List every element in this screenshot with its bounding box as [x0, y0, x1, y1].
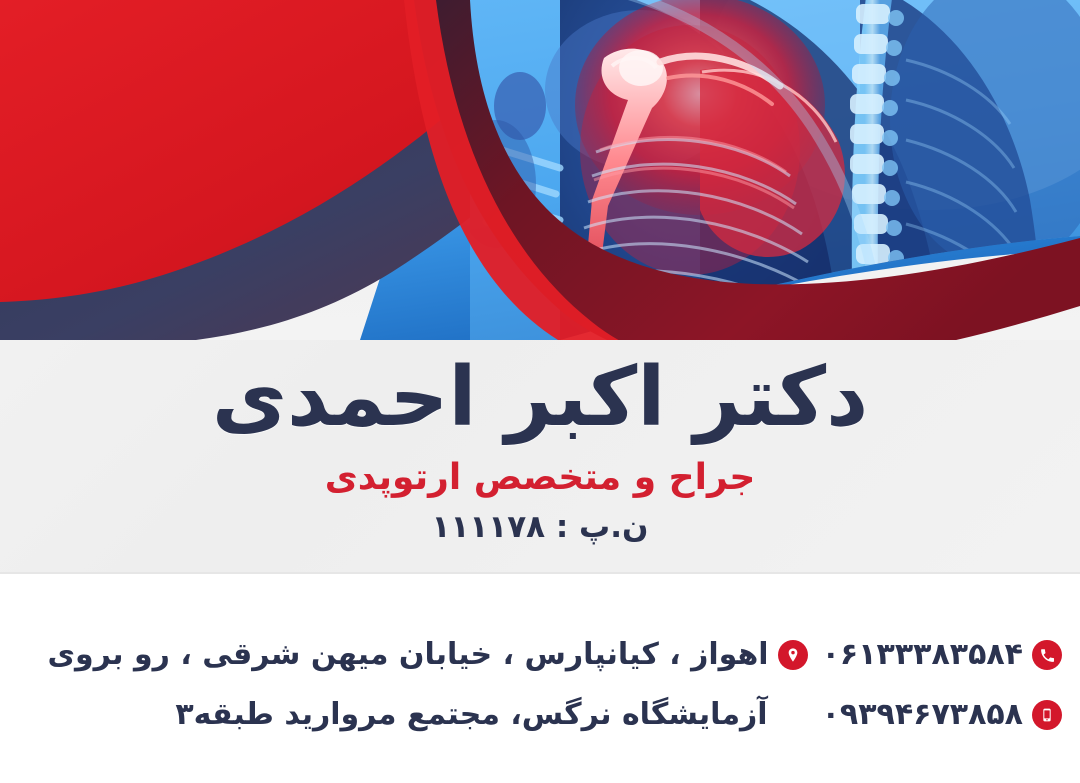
specialty-line: جراح و متخصص ارتوپدی: [0, 456, 1080, 499]
panel-divider: [0, 572, 1080, 574]
card-upper-panel: دکتر اکبر احمدی جراح و متخصص ارتوپدی ن.پ…: [0, 0, 1080, 574]
identity-block: دکتر اکبر احمدی جراح و متخصص ارتوپدی ن.پ…: [0, 352, 1080, 546]
phone-handset-icon[interactable]: [1032, 640, 1062, 670]
address-line-2: آزمایشگاه نرگس، مجتمع مروارید طبقه۳: [175, 700, 767, 730]
header-graphic-svg: [0, 0, 1080, 340]
contact-footer: ۰۶۱۳۳۳۸۳۵۸۴ اهواز ، کیانپارس ، خیابان می…: [0, 600, 1080, 783]
map-pin-icon[interactable]: [778, 640, 808, 670]
business-card: دکتر اکبر احمدی جراح و متخصص ارتوپدی ن.پ…: [0, 0, 1080, 783]
license-number: ن.پ : ۱۱۱۱۷۸: [0, 509, 1080, 546]
mobile-number[interactable]: ۰۹۳۹۴۶۷۳۸۵۸: [822, 700, 1023, 730]
contact-row-mobile: ۰۹۳۹۴۶۷۳۸۵۸ آزمایشگاه نرگس، مجتمع مرواری…: [0, 688, 1080, 742]
address-line-1: اهواز ، کیانپارس ، خیابان میهن شرقی ، رو…: [48, 640, 769, 670]
mobile-phone-icon[interactable]: [1032, 700, 1062, 730]
doctor-name: دکتر اکبر احمدی: [0, 352, 1080, 444]
landline-number[interactable]: ۰۶۱۳۳۳۸۳۵۸۴: [822, 640, 1023, 670]
contact-row-landline: ۰۶۱۳۳۳۸۳۵۸۴ اهواز ، کیانپارس ، خیابان می…: [0, 628, 1080, 682]
header-artwork: [0, 0, 1080, 340]
